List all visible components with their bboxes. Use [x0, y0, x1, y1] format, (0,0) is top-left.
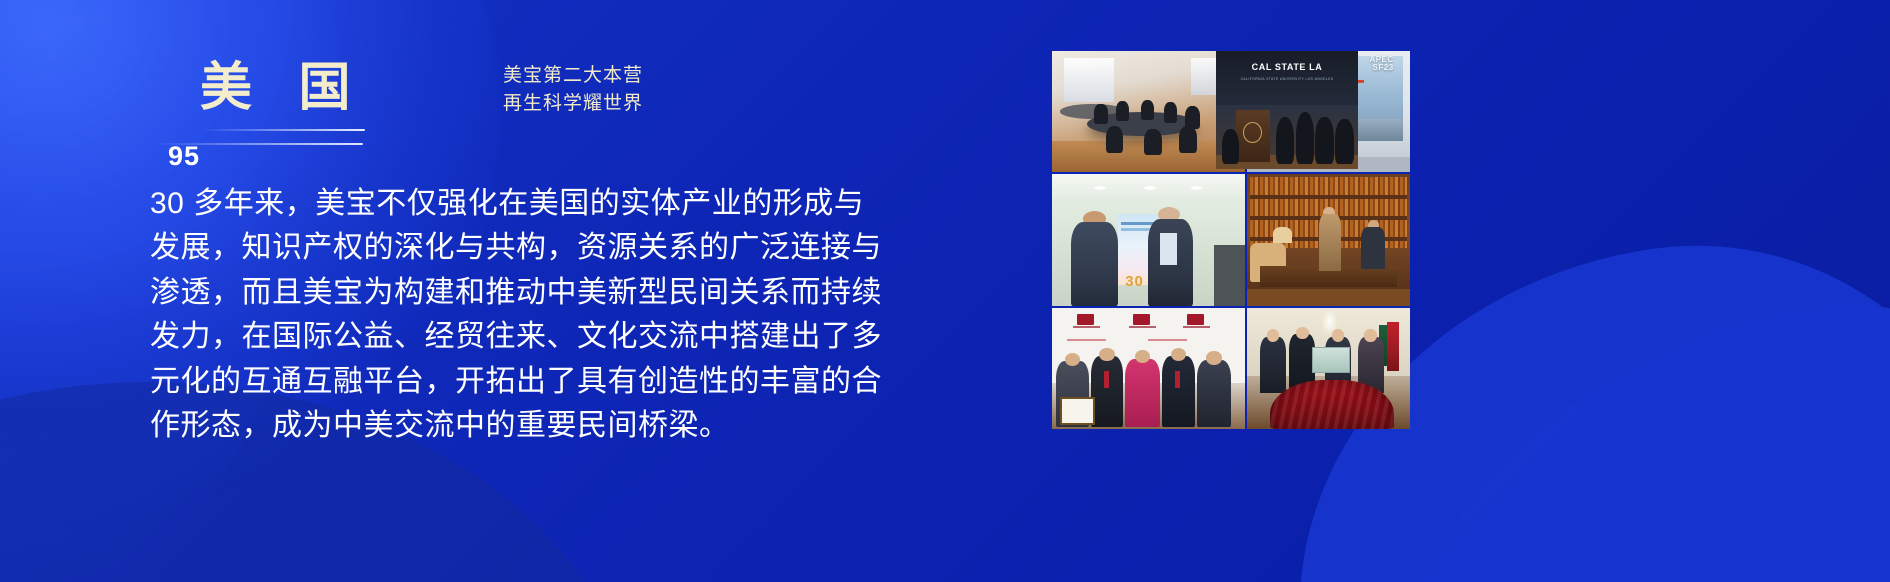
person-shape	[1164, 102, 1177, 123]
content-column: 美 国 95 美宝第二大本营 再生科学耀世界 30 多年来，美宝不仅强化在美国的…	[0, 0, 1010, 582]
slide-root: 美 国 95 美宝第二大本营 再生科学耀世界 30 多年来，美宝不仅强化在美国的…	[0, 0, 1890, 582]
body-line: 发力，在国际公益、经贸往来、文化交流中搭建出了多	[150, 315, 920, 359]
subtitle-line-1: 美宝第二大本营	[408, 62, 738, 90]
backdrop-text-bar	[1148, 339, 1187, 341]
person-body-shape	[1319, 214, 1342, 272]
shirt-shape	[1160, 233, 1177, 264]
photo-harvard-award	[1052, 308, 1245, 429]
photo-red-drape-ceremony	[1247, 308, 1410, 429]
backdrop-text-bar	[1183, 326, 1210, 328]
person-shape	[1106, 126, 1123, 153]
person-body-shape	[1260, 337, 1286, 393]
person-body-shape	[1335, 119, 1353, 164]
subtitle-line-2: 再生科学耀世界	[408, 90, 738, 118]
body-line: 发展，知识产权的深化与共构，资源关系的广泛连接与	[150, 226, 920, 270]
person-head-shape	[1364, 329, 1376, 341]
person-head-shape	[1332, 329, 1344, 341]
floor-shape	[1247, 289, 1410, 306]
person-body-shape	[1315, 117, 1333, 164]
backdrop-text-bar	[1073, 326, 1100, 328]
plaque-shape	[1312, 347, 1350, 373]
body-line: 作形态，成为中美交流中的重要民间桥梁。	[150, 404, 920, 448]
person-shape	[1141, 100, 1154, 121]
person-head-shape	[1065, 353, 1080, 366]
person-body-shape	[1222, 129, 1239, 164]
page-number: 95	[168, 141, 200, 172]
table-lamp-shape	[1273, 227, 1293, 243]
person-head-shape	[1296, 327, 1308, 339]
harvard-logo-shape	[1077, 314, 1094, 325]
title-divider-upper	[203, 129, 365, 131]
person-body-shape	[1197, 360, 1232, 427]
person-shape	[1116, 101, 1129, 122]
apec-caption: APEC SF23	[1369, 56, 1393, 73]
anniversary-number: 30	[1125, 273, 1144, 290]
necktie-shape	[1175, 371, 1180, 388]
person-body-shape	[1125, 359, 1160, 427]
person-shape	[1144, 129, 1161, 156]
section-title-wrapper: 美 国	[200, 62, 366, 114]
body-line: 渗透，而且美宝为构建和推动中美新型民间关系而持续	[150, 271, 920, 315]
person-body-shape	[1091, 356, 1124, 426]
flag-shape	[1387, 322, 1398, 371]
person-head-shape	[1171, 348, 1186, 361]
harvard-logo-shape	[1133, 314, 1150, 325]
person-body-shape	[1162, 356, 1195, 426]
subtitle-block: 美宝第二大本营 再生科学耀世界	[408, 62, 738, 117]
certificate-frame-shape	[1060, 397, 1095, 425]
shelf-divider	[1250, 195, 1407, 198]
window-shape	[1064, 58, 1114, 102]
backdrop-text-bar	[1129, 326, 1156, 328]
podium-seal-icon	[1243, 122, 1262, 143]
cal-state-caption-sub: CALIFORNIA STATE UNIVERSITY LOS ANGELES	[1216, 77, 1358, 81]
dark-wall-shape	[1214, 245, 1245, 305]
person-shape	[1094, 104, 1107, 123]
harvard-logo-shape	[1187, 314, 1204, 325]
necktie-shape	[1104, 371, 1109, 388]
person-head-shape	[1267, 329, 1279, 341]
apec-caption-line-2: SF23	[1369, 64, 1393, 72]
photo-library-signing	[1247, 174, 1410, 305]
photo-exhibition-meeting: 30	[1052, 174, 1245, 305]
photo-cal-state-la: CAL STATE LA CALIFORNIA STATE UNIVERSITY…	[1216, 51, 1358, 169]
person-shape	[1185, 106, 1200, 129]
body-line: 30 多年来，美宝不仅强化在美国的实体产业的形成与	[150, 182, 920, 226]
body-line: 元化的互通互融平台，开拓出了具有创造性的丰富的合	[150, 360, 920, 404]
person-body-shape	[1296, 112, 1314, 164]
red-drape-shape	[1270, 380, 1394, 429]
person-body-shape	[1071, 222, 1117, 306]
body-paragraph: 30 多年来，美宝不仅强化在美国的实体产业的形成与 发展，知识产权的深化与共构，…	[150, 182, 920, 448]
person-head-shape	[1099, 348, 1114, 361]
person-body-shape	[1276, 117, 1294, 164]
person-head-shape	[1206, 351, 1221, 364]
person-body-shape	[1361, 227, 1385, 269]
backdrop-text-bar	[1067, 339, 1106, 341]
person-shape	[1179, 126, 1196, 153]
section-title: 美 国	[200, 62, 366, 114]
cal-state-caption: CAL STATE LA	[1216, 62, 1358, 72]
